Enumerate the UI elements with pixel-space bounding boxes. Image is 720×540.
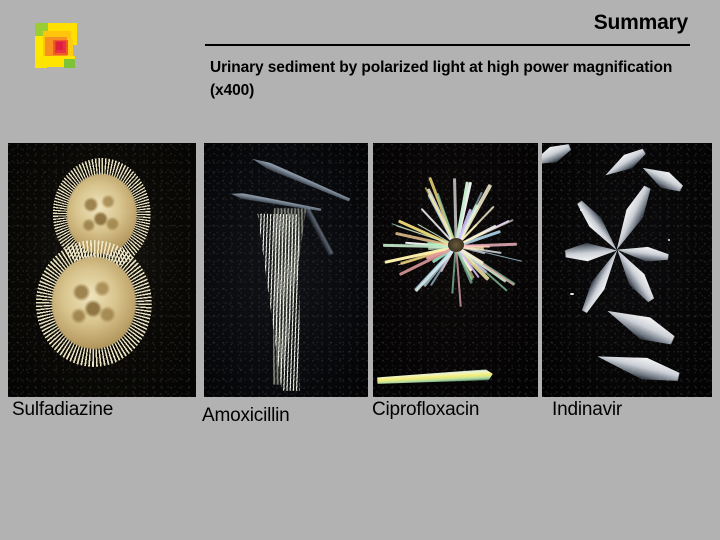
crystal-rosette-lower — [36, 240, 153, 367]
page-title: Summary — [594, 11, 688, 35]
micrograph-sulfadiazine — [8, 143, 196, 397]
nested-squares-logo — [35, 23, 81, 69]
caption-sulfadiazine: Sulfadiazine — [12, 399, 113, 421]
debris-speck — [580, 209, 583, 211]
rosette-mottling — [74, 183, 129, 246]
caption-indinavir: Indinavir — [552, 399, 622, 421]
caption-ciprofloxacin: Ciprofloxacin — [372, 399, 479, 421]
logo-square-green-bottom-right — [64, 59, 75, 68]
logo-square-yellow-bottom-left — [35, 59, 47, 68]
page-subtitle: Urinary sediment by polarized light at h… — [210, 56, 690, 102]
caption-amoxicillin: Amoxicillin — [202, 405, 290, 427]
micrograph-amoxicillin — [204, 143, 368, 397]
logo-square-red-core — [56, 42, 63, 50]
micrograph-ciprofloxacin — [373, 143, 538, 397]
rosette-mottling — [61, 267, 126, 338]
debris-speck — [668, 239, 670, 241]
header-divider — [205, 44, 690, 46]
debris-speck — [570, 293, 574, 295]
micrograph-indinavir — [542, 143, 712, 397]
starburst-hub — [448, 238, 464, 252]
